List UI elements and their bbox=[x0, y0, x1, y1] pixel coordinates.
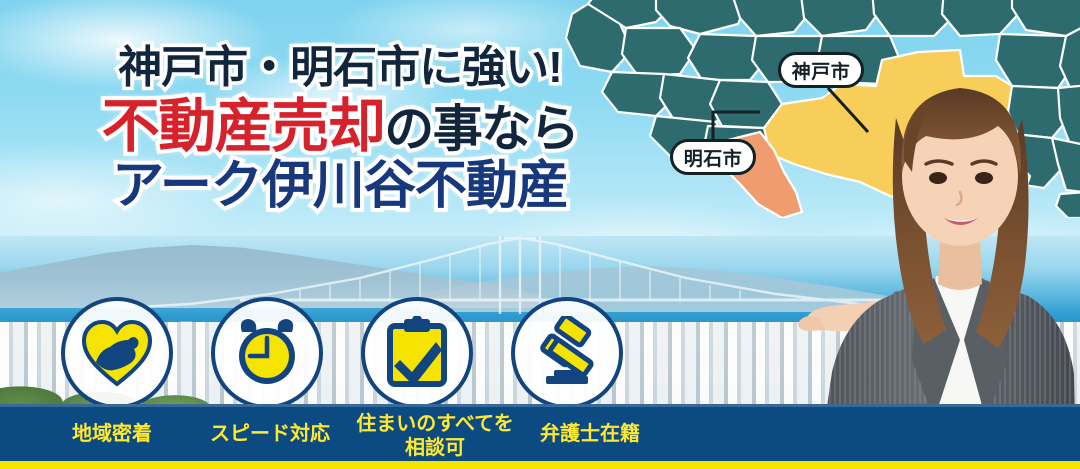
clipboard-check-icon bbox=[380, 316, 454, 390]
bar-top-highlight bbox=[0, 404, 1080, 407]
feature-label-3: 弁護士在籍 bbox=[510, 423, 670, 447]
businesswoman-photo bbox=[784, 0, 1080, 469]
feature-label-2: 住まいのすべてを 相談可 bbox=[345, 413, 525, 460]
company-name: アーク伊川谷不動産 bbox=[0, 160, 680, 213]
feature-icon-circle-2 bbox=[211, 297, 323, 409]
gavel-icon bbox=[530, 316, 604, 390]
headline-line-2-rest: の事なら bbox=[384, 101, 578, 157]
feature-label-0-line1: 地域密着 bbox=[42, 423, 182, 447]
feature-label-3-line1: 弁護士在籍 bbox=[510, 423, 670, 447]
feature-icons bbox=[55, 297, 655, 413]
feature-label-2-line2: 相談可 bbox=[345, 437, 525, 461]
map-label-akashi: 明石市 bbox=[670, 139, 756, 175]
feature-label-1-line1: スピード対応 bbox=[190, 423, 350, 447]
alarm-clock-icon bbox=[230, 316, 304, 390]
feature-icon-circle-1 bbox=[61, 297, 173, 409]
feature-label-2-line1: 住まいのすべてを bbox=[345, 413, 525, 437]
feature-icon-circle-3 bbox=[361, 297, 473, 409]
feature-icon-circle-4 bbox=[511, 297, 623, 409]
feature-label-1: スピード対応 bbox=[190, 423, 350, 447]
heart-map-icon bbox=[80, 316, 154, 390]
bottom-accent-strip bbox=[0, 461, 1080, 469]
headline-block: 神戸市・明石市に強い! 不動産売却の事なら アーク伊川谷不動産 bbox=[0, 46, 680, 213]
headline-highlight: 不動産売却 bbox=[102, 94, 385, 159]
headline-line-2: 不動産売却の事なら bbox=[0, 97, 680, 156]
feature-label-0: 地域密着 bbox=[42, 423, 182, 447]
headline-line-1: 神戸市・明石市に強い! bbox=[0, 46, 680, 91]
real-estate-hero-banner: 神戸市 明石市 bbox=[0, 0, 1080, 469]
feature-label-bar: 地域密着 スピード対応 住まいのすべてを 相談可 弁護士在籍 bbox=[0, 404, 1080, 469]
